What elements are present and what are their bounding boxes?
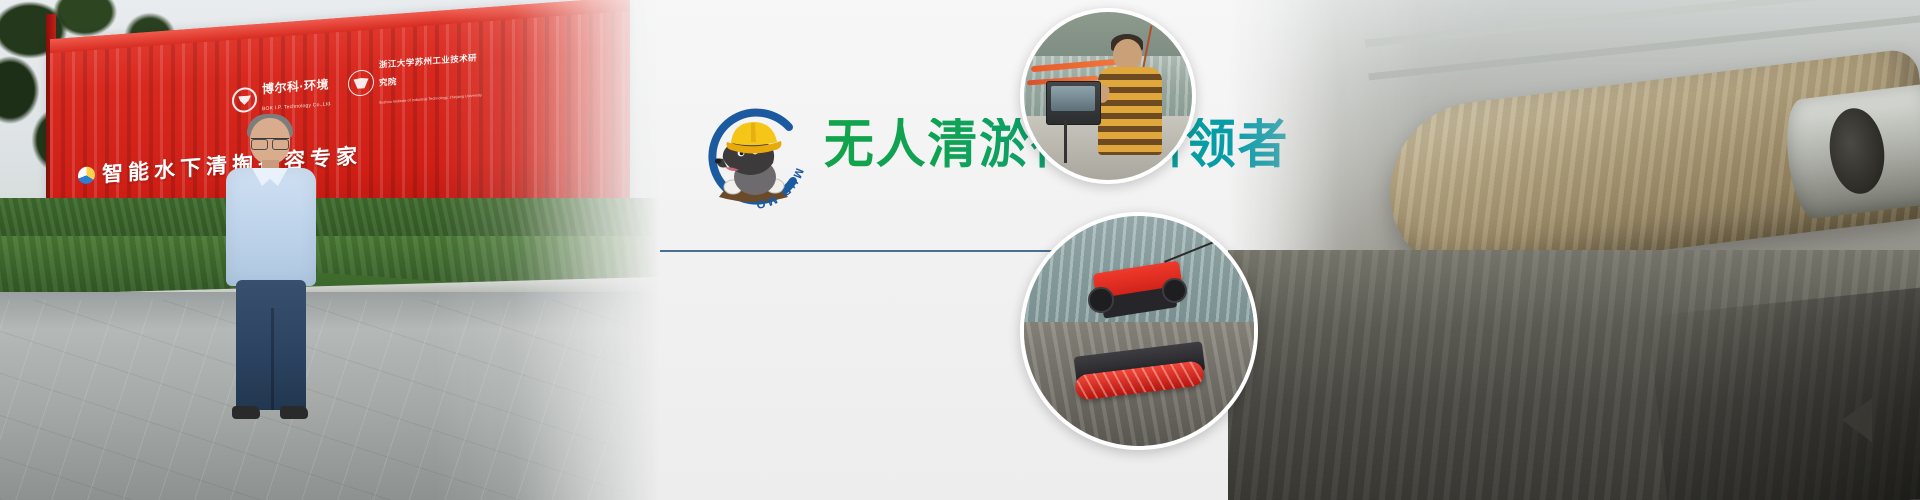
brand-name-en: BOK I.P. Technology Co.,Ltd. bbox=[262, 101, 332, 112]
robot-wheel-left bbox=[1088, 287, 1113, 312]
tripod-leg bbox=[1064, 120, 1067, 164]
person-trousers bbox=[236, 280, 306, 410]
person-portrait bbox=[218, 118, 328, 408]
left-container-photo: 博尔科·环境 BOK I.P. Technology Co.,Ltd. 浙江大学… bbox=[0, 0, 660, 500]
person-shirt bbox=[226, 168, 316, 286]
control-case-screen bbox=[1051, 86, 1095, 111]
eyeglasses-icon bbox=[251, 138, 289, 147]
slogan-badge-icon bbox=[78, 166, 95, 184]
partner-name-cn: 浙江大学苏州工业技术研究院 bbox=[379, 52, 477, 87]
operator-circle-photo bbox=[1020, 8, 1196, 184]
pavement-tile-lines bbox=[0, 300, 660, 500]
mud-mole-logo-icon: MUD MOLE bbox=[693, 101, 813, 211]
shadow-overlay bbox=[1648, 285, 1920, 500]
operator-head bbox=[1113, 39, 1142, 71]
person-shoe-right bbox=[280, 406, 308, 419]
next-arrow-icon[interactable] bbox=[1842, 398, 1872, 442]
operator-striped-shirt bbox=[1098, 67, 1162, 154]
hero-banner: 博尔科·环境 BOK I.P. Technology Co.,Ltd. 浙江大学… bbox=[0, 0, 1920, 500]
right-photo-collage bbox=[1228, 0, 1920, 500]
person-shoe-left bbox=[232, 406, 260, 419]
shield-icon bbox=[232, 86, 257, 113]
mud-mole-logo: MUD MOLE bbox=[693, 101, 813, 211]
brand-name-cn: 博尔科·环境 bbox=[262, 77, 329, 96]
institute-seal-icon bbox=[348, 69, 374, 97]
robot-circle-photo bbox=[1020, 212, 1258, 450]
